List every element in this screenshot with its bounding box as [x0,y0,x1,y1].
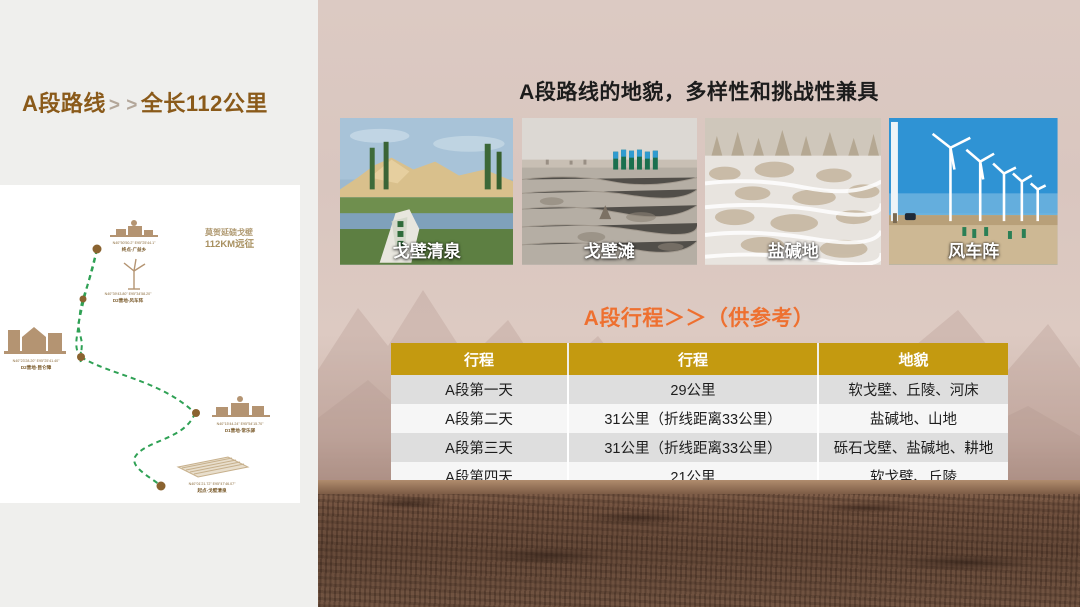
waypoint-coords-3: N40°15'44.24" E95°54'15.70" [217,422,264,426]
village-icon-end [110,220,158,237]
fort-ruins-icon [4,327,66,354]
waypoint-label-3: D1营地-常乐驿 [225,427,256,434]
waypoint-dot-0[interactable] [93,245,102,254]
left-panel: A段路线> >全长112公里 莫贺延碛戈壁 112KM远征 N40°50'50.… [0,0,318,607]
itinerary-table-wrapper: 行程 行程 地貌 A段第一天 29公里 软戈壁、丘陵、河床 A段第二天 31公里… [391,343,1008,491]
route-map-svg: 莫贺延碛戈壁 112KM远征 N40°50'50.2" E95°25'44.1"… [0,185,300,503]
left-title-main: A段路线 [22,91,106,116]
itinerary-table: 行程 行程 地貌 A段第一天 29公里 软戈壁、丘陵、河床 A段第二天 31公里… [391,343,1008,491]
cell-day-2: A段第三天 [391,433,568,462]
right-panel: A段路线的地貌，多样性和挑战性兼具 [318,0,1080,607]
waypoint-coords-4: N40°01'21.72" E95°47'46.07" [189,482,236,486]
photo-saline-land[interactable]: 盐碱地 [705,118,881,266]
map-heading-line2: 112KM远征 [205,238,255,250]
cell-terrain-1: 盐碱地、山地 [818,404,1008,433]
cell-distance-0: 29公里 [568,375,818,404]
table-header-day: 行程 [391,343,568,375]
cell-day-0: A段第一天 [391,375,568,404]
table-header-distance: 行程 [568,343,818,375]
left-title-arrow: > > [106,95,141,116]
left-panel-title: A段路线> >全长112公里 [22,86,268,118]
field-icon-start [178,457,248,477]
route-map-card[interactable]: 莫贺延碛戈壁 112KM远征 N40°50'50.2" E95°25'44.1"… [0,185,300,503]
waypoint-coords-0: N40°50'50.2" E95°25'44.1" [113,241,156,245]
left-title-tail: 全长112公里 [141,91,268,116]
photo-gobi-flat[interactable]: 戈壁滩 [522,118,697,266]
route-path-2 [81,357,195,413]
photo-gobi-spring[interactable]: 戈壁清泉 [340,118,514,266]
table-header-row: 行程 行程 地貌 [391,343,1008,375]
table-row: A段第三天 31公里（折线距离33公里） 砾石戈壁、盐碱地、耕地 [391,433,1008,462]
table-row: A段第一天 29公里 软戈壁、丘陵、河床 [391,375,1008,404]
slide-root: A段路线> >全长112公里 莫贺延碛戈壁 112KM远征 N40°50'50.… [0,0,1080,607]
photo-caption-2: 盐碱地 [705,237,881,262]
map-heading-line1: 莫贺延碛戈壁 [204,227,253,237]
table-header-terrain: 地貌 [818,343,1008,375]
waypoint-dot-1[interactable] [80,296,87,303]
route-path-segment-a [76,249,97,362]
waypoint-coords-1: N40°39'43.80" E95°34'58.20" [105,292,152,296]
town-icon-d1 [212,396,270,417]
itinerary-section-heading: A段行程＞＞（供参考） [318,302,1080,332]
cell-terrain-2: 砾石戈壁、盐碱地、耕地 [818,433,1008,462]
cell-distance-1: 31公里（折线距离33公里） [568,404,818,433]
waypoint-label-0: 终点-广益乡 [122,246,147,253]
cell-day-1: A段第二天 [391,404,568,433]
waypoint-label-2: D2营地-昆仑障 [21,364,52,371]
photo-caption-1: 戈壁滩 [522,237,697,262]
waypoint-dot-2[interactable] [77,353,85,361]
photo-wind-turbines[interactable]: 风车阵 [889,118,1058,266]
photo-strip: 戈壁清泉 [340,118,1058,266]
route-path-3 [134,413,195,485]
right-panel-title: A段路线的地貌，多样性和挑战性兼具 [318,76,1080,106]
wind-turbine-icon [124,259,145,289]
waypoint-dot-4[interactable] [157,482,166,491]
cell-distance-2: 31公里（折线距离33公里） [568,433,818,462]
waypoint-label-4: 起点-戈壁清泉 [196,487,226,494]
waypoint-coords-2: N40°23'28.20" E95°25'41.40" [13,359,60,363]
waypoint-dot-3[interactable] [192,409,200,417]
table-row: A段第二天 31公里（折线距离33公里） 盐碱地、山地 [391,404,1008,433]
desert-ground-photo [318,480,1080,607]
cell-terrain-0: 软戈壁、丘陵、河床 [818,375,1008,404]
photo-caption-3: 风车阵 [889,237,1058,262]
waypoint-label-1: D2营地-风车阵 [113,297,144,304]
photo-caption-0: 戈壁清泉 [340,237,514,262]
